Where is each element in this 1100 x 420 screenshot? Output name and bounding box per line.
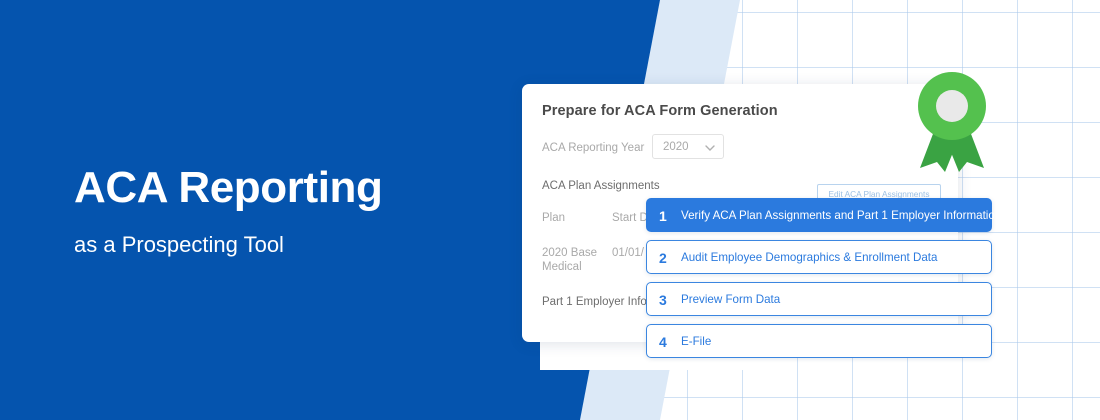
award-ribbon-icon bbox=[912, 68, 992, 172]
part1-employer-info-label: Part 1 Employer Infor bbox=[542, 296, 651, 308]
chevron-down-icon bbox=[705, 143, 714, 152]
step-label: Verify ACA Plan Assignments and Part 1 E… bbox=[681, 199, 1001, 233]
step-label: Audit Employee Demographics & Enrollment… bbox=[681, 241, 937, 275]
step-label: Preview Form Data bbox=[681, 283, 780, 317]
page-title: ACA Reporting bbox=[74, 163, 382, 213]
page-subtitle: as a Prospecting Tool bbox=[74, 232, 284, 258]
step-number: 1 bbox=[659, 199, 667, 233]
step-list: 1 Verify ACA Plan Assignments and Part 1… bbox=[646, 198, 992, 366]
step-item-3[interactable]: 3 Preview Form Data bbox=[646, 282, 992, 316]
aca-reporting-banner: ACA Reporting as a Prospecting Tool Prep… bbox=[0, 0, 1100, 420]
step-number: 4 bbox=[659, 325, 667, 359]
step-item-2[interactable]: 2 Audit Employee Demographics & Enrollme… bbox=[646, 240, 992, 274]
step-label: E-File bbox=[681, 325, 711, 359]
reporting-year-label: ACA Reporting Year bbox=[542, 142, 644, 154]
table-row: 2020 Base Medical bbox=[542, 246, 606, 274]
column-header-start-date: Start D bbox=[612, 212, 648, 224]
column-header-plan: Plan bbox=[542, 212, 565, 224]
step-item-4[interactable]: 4 E-File bbox=[646, 324, 992, 358]
step-item-1[interactable]: 1 Verify ACA Plan Assignments and Part 1… bbox=[646, 198, 992, 232]
reporting-year-value: 2020 bbox=[663, 141, 689, 153]
reporting-year-select[interactable]: 2020 bbox=[652, 134, 724, 159]
plan-assignments-label: ACA Plan Assignments bbox=[542, 180, 660, 192]
card-title: Prepare for ACA Form Generation bbox=[542, 103, 778, 119]
step-number: 3 bbox=[659, 283, 667, 317]
step-number: 2 bbox=[659, 241, 667, 275]
